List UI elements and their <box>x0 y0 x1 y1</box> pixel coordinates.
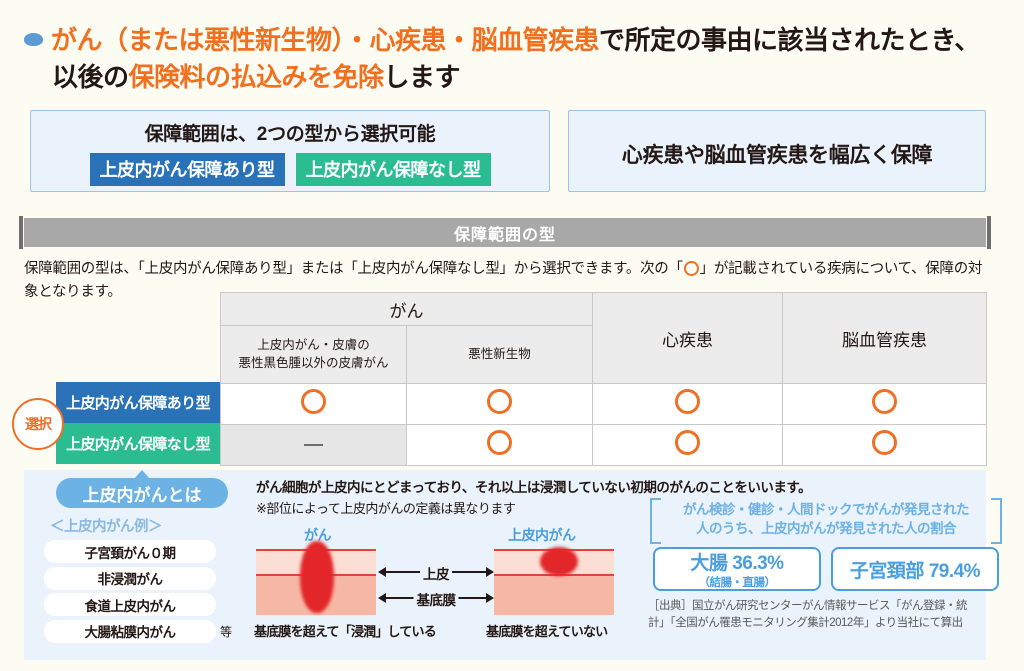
headline-highlight-2: 保険料の払込みを免除 <box>129 62 384 92</box>
headline: がん（または悪性新生物）・心疾患・脳血管疾患で所定の事由に該当されたとき、 以後… <box>24 22 1004 96</box>
example-colorectal-intramucosal: 大腸粘膜内がん <box>44 620 216 643</box>
statistics-source-line-1: ［出典］国立がん研究センターがん情報サービス「がん登録・統 <box>648 600 967 612</box>
type-badge-with-carcinoma-in-situ: 上皮内がん保障あり型 <box>90 153 285 186</box>
column-cis-line-2: 悪性黒色腫以外の皮膚がん <box>238 356 388 370</box>
cell-ari-cerebro <box>783 384 987 425</box>
arrow-label-epithelium: 上皮 <box>420 563 452 583</box>
row-label-without-carcinoma-in-situ: 上皮内がん保障なし型 <box>56 423 220 464</box>
section-title: 保障範囲の型 <box>454 221 556 245</box>
column-carcinoma-in-situ-skin: 上皮内がん・皮膚の 悪性黒色腫以外の皮膚がん <box>221 326 407 384</box>
headline-pre-2: 以後の <box>52 62 129 92</box>
circle-mark-icon <box>872 389 897 414</box>
arrow-right-icon <box>486 593 494 603</box>
oval-bullet-icon <box>24 33 43 46</box>
tumor-shape-icon <box>300 541 334 613</box>
coverage-matrix-table: がん 心疾患 脳血管疾患 上皮内がん・皮膚の 悪性黒色腫以外の皮膚がん 悪性新生… <box>220 292 987 466</box>
diagram-caption-invasive: 基底膜を超えて「浸潤」している <box>254 621 436 640</box>
headline-line-2: 以後の保険料の払込みを免除します <box>24 59 1004 96</box>
stat-colorectal-value: 大腸 36.3% <box>690 548 783 575</box>
headline-highlight-1: がん（または悪性新生物）・心疾患・脳血管疾患 <box>51 25 599 55</box>
column-heart-disease: 心疾患 <box>593 293 783 384</box>
statistics-caption: がん検診・健診・人間ドックでがんが発見された 人のうち、上皮内がんが発見された人… <box>648 498 1004 540</box>
type-badge-row: 上皮内がん保障あり型 上皮内がん保障なし型 <box>31 153 549 186</box>
cell-nashi-cis <box>221 425 407 466</box>
tissue-diagram: がん 上皮内がん <box>256 525 638 650</box>
list-item: 食道上皮内がん <box>44 593 240 616</box>
dash-mark-icon <box>304 444 323 446</box>
headline-line-1: がん（または悪性新生物）・心疾患・脳血管疾患で所定の事由に該当されたとき、 <box>24 22 1004 59</box>
headline-post-2: します <box>384 62 461 92</box>
cell-ari-neoplasm <box>407 384 593 425</box>
definition-line-1: がん細胞が上皮内にとどまっており、それ以上は浸潤していない初期のがんのことをいい… <box>256 476 638 496</box>
broad-coverage-text: 心疾患や脳血管疾患を幅広く保障 <box>569 139 985 169</box>
statistics-source: ［出典］国立がん研究センターがん情報サービス「がん登録・統 計」「全国がん罹患モ… <box>648 598 1004 631</box>
cell-nashi-neoplasm <box>407 425 593 466</box>
example-esophageal-cis: 食道上皮内がん <box>44 593 216 616</box>
stat-cervix: 子宮頚部 79.4% <box>831 547 999 591</box>
coverage-selection-box: 保障範囲は、2つの型から選択可能 上皮内がん保障あり型 上皮内がん保障なし型 <box>30 110 550 192</box>
column-malignant-neoplasm: 悪性新生物 <box>407 326 593 384</box>
arrow-label-basement-membrane: 基底膜 <box>414 589 459 609</box>
basement-layer <box>494 575 614 615</box>
arrow-line: 上皮 <box>386 571 486 573</box>
broad-coverage-box: 心疾患や脳血管疾患を幅広く保障 <box>568 110 986 192</box>
table-header-group-row: がん 心疾患 脳血管疾患 <box>221 293 987 326</box>
row-label-with-carcinoma-in-situ: 上皮内がん保障あり型 <box>56 382 220 423</box>
list-item: 大腸粘膜内がん 等 <box>44 620 240 643</box>
list-item: 非浸潤がん <box>44 567 240 590</box>
tissue-illustration-invasive <box>256 549 376 615</box>
circle-mark-icon <box>487 389 512 414</box>
stat-colorectal-note: （結腸・直腸） <box>699 574 776 590</box>
circle-mark-icon <box>684 261 699 276</box>
definition-block: がん細胞が上皮内にとどまっており、それ以上は浸潤していない初期のがんのことをいい… <box>256 476 638 650</box>
cell-ari-heart <box>593 384 783 425</box>
table-row <box>221 425 987 466</box>
statistics-caption-line-2: 人のうち、上皮内がんが発見された人の割合 <box>696 521 956 536</box>
column-cerebrovascular-disease: 脳血管疾患 <box>783 293 987 384</box>
tumor-shape-icon <box>540 547 578 576</box>
list-item: 子宮頚がん０期 <box>44 540 240 563</box>
type-badge-without-carcinoma-in-situ: 上皮内がん保障なし型 <box>296 153 491 186</box>
statistics-block: がん検診・健診・人間ドックでがんが発見された 人のうち、上皮内がんが発見された人… <box>648 498 1004 632</box>
headline-rest-1: で所定の事由に該当されたとき、 <box>599 25 980 55</box>
tissue-illustration-in-situ <box>494 549 614 615</box>
stat-cervix-value: 子宮頚部 79.4% <box>850 556 980 583</box>
column-cis-line-1: 上皮内がん・皮膚の <box>257 338 370 352</box>
cell-nashi-cerebro <box>783 425 987 466</box>
statistics-source-line-2: 計」「全国がん罹患モニタリング集計2012年」より当社にて算出 <box>648 617 963 629</box>
arrow-left-icon <box>378 567 386 577</box>
circle-mark-icon <box>675 430 700 455</box>
section-header-bar: 保障範囲の型 <box>24 218 986 247</box>
stat-colorectal: 大腸 36.3% （結腸・直腸） <box>653 547 821 591</box>
what-is-title: 上皮内がんとは <box>56 478 228 508</box>
example-cervical-cancer-stage0: 子宮頚がん０期 <box>44 540 216 563</box>
circle-mark-icon <box>872 430 897 455</box>
arrow-epithelium: 上皮 <box>378 565 494 579</box>
arrow-right-icon <box>486 567 494 577</box>
select-badge: 選択 <box>12 398 64 450</box>
table-row <box>221 384 987 425</box>
circle-mark-icon <box>675 389 700 414</box>
arrow-left-icon <box>378 593 386 603</box>
statistics-caption-line-1: がん検診・健診・人間ドックでがんが発見された <box>683 502 969 517</box>
arrow-line: 基底膜 <box>386 597 486 599</box>
coverage-selection-title: 保障範囲は、2つの型から選択可能 <box>31 119 549 146</box>
example-noninvasive-cancer: 非浸潤がん <box>44 567 216 590</box>
description-part-1: 保障範囲の型は、「上皮内がん保障あり型」または「上皮内がん保障なし型」から選択で… <box>24 261 683 277</box>
infographic-page: がん（または悪性新生物）・心疾患・脳血管疾患で所定の事由に該当されたとき、 以後… <box>0 0 1024 671</box>
circle-mark-icon <box>301 389 326 414</box>
examples-heading: ＜上皮内がん例＞ <box>50 515 240 536</box>
carcinoma-in-situ-explainer-panel: 上皮内がんとは ＜上皮内がん例＞ 子宮頚がん０期 非浸潤がん 食道上皮内がん 大… <box>24 470 986 660</box>
cell-nashi-heart <box>593 425 783 466</box>
diagram-label-carcinoma-in-situ: 上皮内がん <box>508 525 576 545</box>
arrow-basement-membrane: 基底膜 <box>378 591 494 605</box>
cell-ari-cis <box>221 384 407 425</box>
what-is-panel: 上皮内がんとは ＜上皮内がん例＞ 子宮頚がん０期 非浸潤がん 食道上皮内がん 大… <box>44 478 240 646</box>
column-group-cancer: がん <box>221 293 593 326</box>
diagram-caption-in-situ: 基底膜を超えていない <box>486 621 607 640</box>
circle-mark-icon <box>487 430 512 455</box>
statistics-row: 大腸 36.3% （結腸・直腸） 子宮頚部 79.4% <box>648 547 1004 591</box>
definition-line-2: ※部位によって上皮内がんの定義は異なります <box>256 498 638 517</box>
examples-suffix: 等 <box>220 623 232 640</box>
